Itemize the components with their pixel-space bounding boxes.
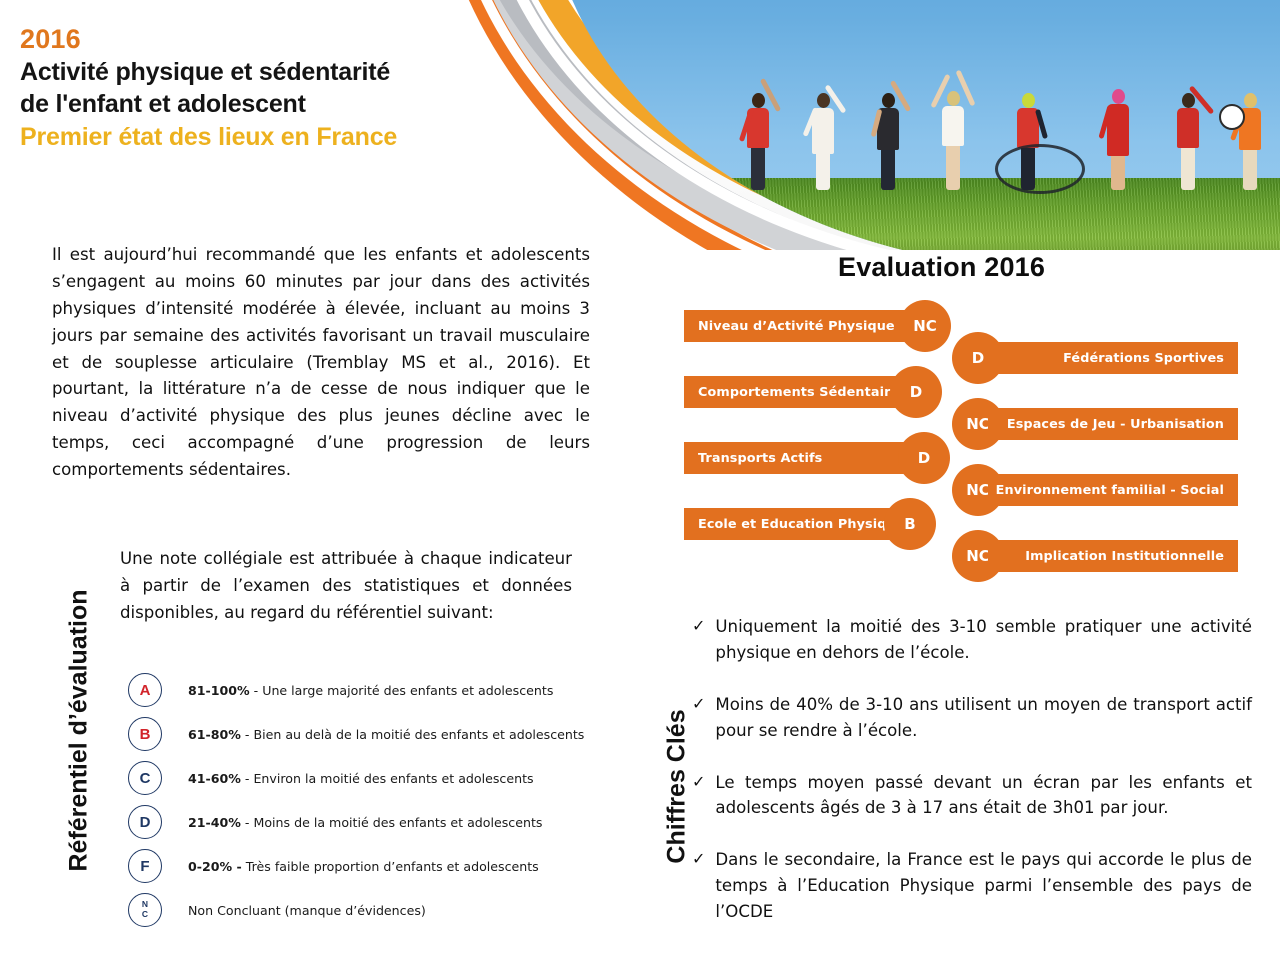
- athlete-figure: [942, 91, 964, 190]
- grade-description: 0-20% - Très faible proportion d’enfants…: [188, 859, 539, 874]
- grade-text: Moins de la moitié des enfants et adoles…: [253, 815, 542, 830]
- list-item: F 0-20% - Très faible proportion d’enfan…: [128, 844, 598, 888]
- grade-description: 41-60% - Environ la moitié des enfants e…: [188, 771, 534, 786]
- athlete-figure: [1107, 89, 1129, 190]
- grade-range: 81-100%: [188, 683, 250, 698]
- grade-separator: -: [241, 771, 254, 786]
- indicator-grade-circle: B: [884, 498, 936, 550]
- chiffres-cles-vertical-label: Chiffres Clés: [663, 672, 692, 902]
- grade-text: Bien au delà de la moitié des enfants et…: [253, 727, 584, 742]
- page-year: 2016: [20, 24, 540, 56]
- list-item: ✓ Moins de 40% de 3-10 ans utilisent un …: [692, 692, 1252, 744]
- grass-field: [547, 178, 1280, 250]
- evaluation-title: Evaluation 2016: [838, 252, 1045, 283]
- list-item: A 81-100% - Une large majorité des enfan…: [128, 668, 598, 712]
- indicator-bar: Fédérations Sportives: [988, 342, 1238, 374]
- grade-badge-nc: NC: [128, 893, 162, 927]
- intro-paragraph: Il est aujourd’hui recommandé que les en…: [52, 242, 590, 484]
- indicator-grade-circle: NC: [899, 300, 951, 352]
- page-title-line-2: de l'enfant et adolescent: [20, 88, 540, 121]
- evaluation-diagram: Niveau d’Activité Physique NC Comporteme…: [684, 300, 1224, 570]
- grade-range: 21-40%: [188, 815, 241, 830]
- list-item: ✓ Dans le secondaire, la France est le p…: [692, 847, 1252, 925]
- grade-badge-b: B: [128, 717, 162, 751]
- grade-separator: -: [241, 727, 254, 742]
- checkmark-icon: ✓: [692, 614, 705, 666]
- indicator-label: Comportements Sédentaires: [698, 385, 907, 400]
- title-block: 2016 Activité physique et sédentarité de…: [20, 24, 540, 153]
- checkmark-icon: ✓: [692, 770, 705, 822]
- indicator-grade-circle: D: [890, 366, 942, 418]
- grade-description: Non Concluant (manque d’évidences): [188, 903, 426, 918]
- page-title-line-1: Activité physique et sédentarité: [20, 56, 540, 89]
- grade-separator: -: [241, 815, 254, 830]
- athlete-figure: [1239, 93, 1261, 190]
- list-item: ✓ Uniquement la moitié des 3-10 semble p…: [692, 614, 1252, 666]
- grade-badge-nc-line2: C: [142, 910, 148, 920]
- indicator-label: Espaces de Jeu - Urbanisation: [1007, 417, 1224, 432]
- athlete-figure: [812, 93, 834, 190]
- referentiel-vertical-label: Référentiel d’évaluation: [65, 566, 94, 896]
- grade-description: 61-80% - Bien au delà de la moitié des e…: [188, 727, 584, 742]
- grade-range: 41-60%: [188, 771, 241, 786]
- grade-badge-d: D: [128, 805, 162, 839]
- grade-badge-a: A: [128, 673, 162, 707]
- grade-scale-list: A 81-100% - Une large majorité des enfan…: [128, 668, 598, 932]
- grade-separator: -: [250, 683, 263, 698]
- chiffres-cles-text: Le temps moyen passé devant un écran par…: [715, 770, 1252, 822]
- indicator-bar: Environnement familial - Social: [988, 474, 1238, 506]
- grade-description: 21-40% - Moins de la moitié des enfants …: [188, 815, 542, 830]
- grade-text: Une large majorité des enfants et adoles…: [262, 683, 553, 698]
- grade-badge-c: C: [128, 761, 162, 795]
- page-header: 2016 Activité physique et sédentarité de…: [0, 0, 1280, 250]
- grade-range: 61-80%: [188, 727, 241, 742]
- grade-description: 81-100% - Une large majorité des enfants…: [188, 683, 553, 698]
- page-subtitle: Premier état des lieux en France: [20, 121, 540, 154]
- athlete-figure: [1177, 93, 1199, 190]
- referentiel-description: Une note collégiale est attribuée à chaq…: [120, 546, 572, 627]
- chiffres-cles-text: Dans le secondaire, la France est le pay…: [715, 847, 1252, 925]
- bicycle-icon: [995, 144, 1085, 194]
- checkmark-icon: ✓: [692, 847, 705, 925]
- athlete-figure: [747, 93, 769, 190]
- indicator-bar: Espaces de Jeu - Urbanisation: [988, 408, 1238, 440]
- list-item: C 41-60% - Environ la moitié des enfants…: [128, 756, 598, 800]
- soccer-ball-icon: [1219, 104, 1245, 130]
- grade-text: Environ la moitié des enfants et adolesc…: [253, 771, 533, 786]
- list-item: D 21-40% - Moins de la moitié des enfant…: [128, 800, 598, 844]
- list-item: NC Non Concluant (manque d’évidences): [128, 888, 598, 932]
- grade-range: 0-20% -: [188, 859, 242, 874]
- header-decorative-swoosh: [455, 0, 1280, 250]
- grade-text: Très faible proportion d’enfants et adol…: [246, 859, 539, 874]
- checkmark-icon: ✓: [692, 692, 705, 744]
- indicator-label: Niveau d’Activité Physique: [698, 319, 895, 334]
- chiffres-cles-list: ✓ Uniquement la moitié des 3-10 semble p…: [692, 614, 1252, 951]
- chiffres-cles-text: Uniquement la moitié des 3-10 semble pra…: [715, 614, 1252, 666]
- list-item: B 61-80% - Bien au delà de la moitié des…: [128, 712, 598, 756]
- chiffres-cles-text: Moins de 40% de 3-10 ans utilisent un mo…: [715, 692, 1252, 744]
- indicator-label: Implication Institutionnelle: [1025, 549, 1224, 564]
- indicator-bar: Implication Institutionnelle: [988, 540, 1238, 572]
- indicator-grade-circle: D: [898, 432, 950, 484]
- indicator-label: Ecole et Education Physique: [698, 517, 904, 532]
- grade-text: Non Concluant (manque d’évidences): [188, 903, 426, 918]
- athlete-figure: [877, 93, 899, 190]
- indicator-label: Fédérations Sportives: [1063, 351, 1224, 366]
- indicator-label: Environnement familial - Social: [996, 483, 1224, 498]
- list-item: ✓ Le temps moyen passé devant un écran p…: [692, 770, 1252, 822]
- grade-badge-f: F: [128, 849, 162, 883]
- indicator-label: Transports Actifs: [698, 451, 822, 466]
